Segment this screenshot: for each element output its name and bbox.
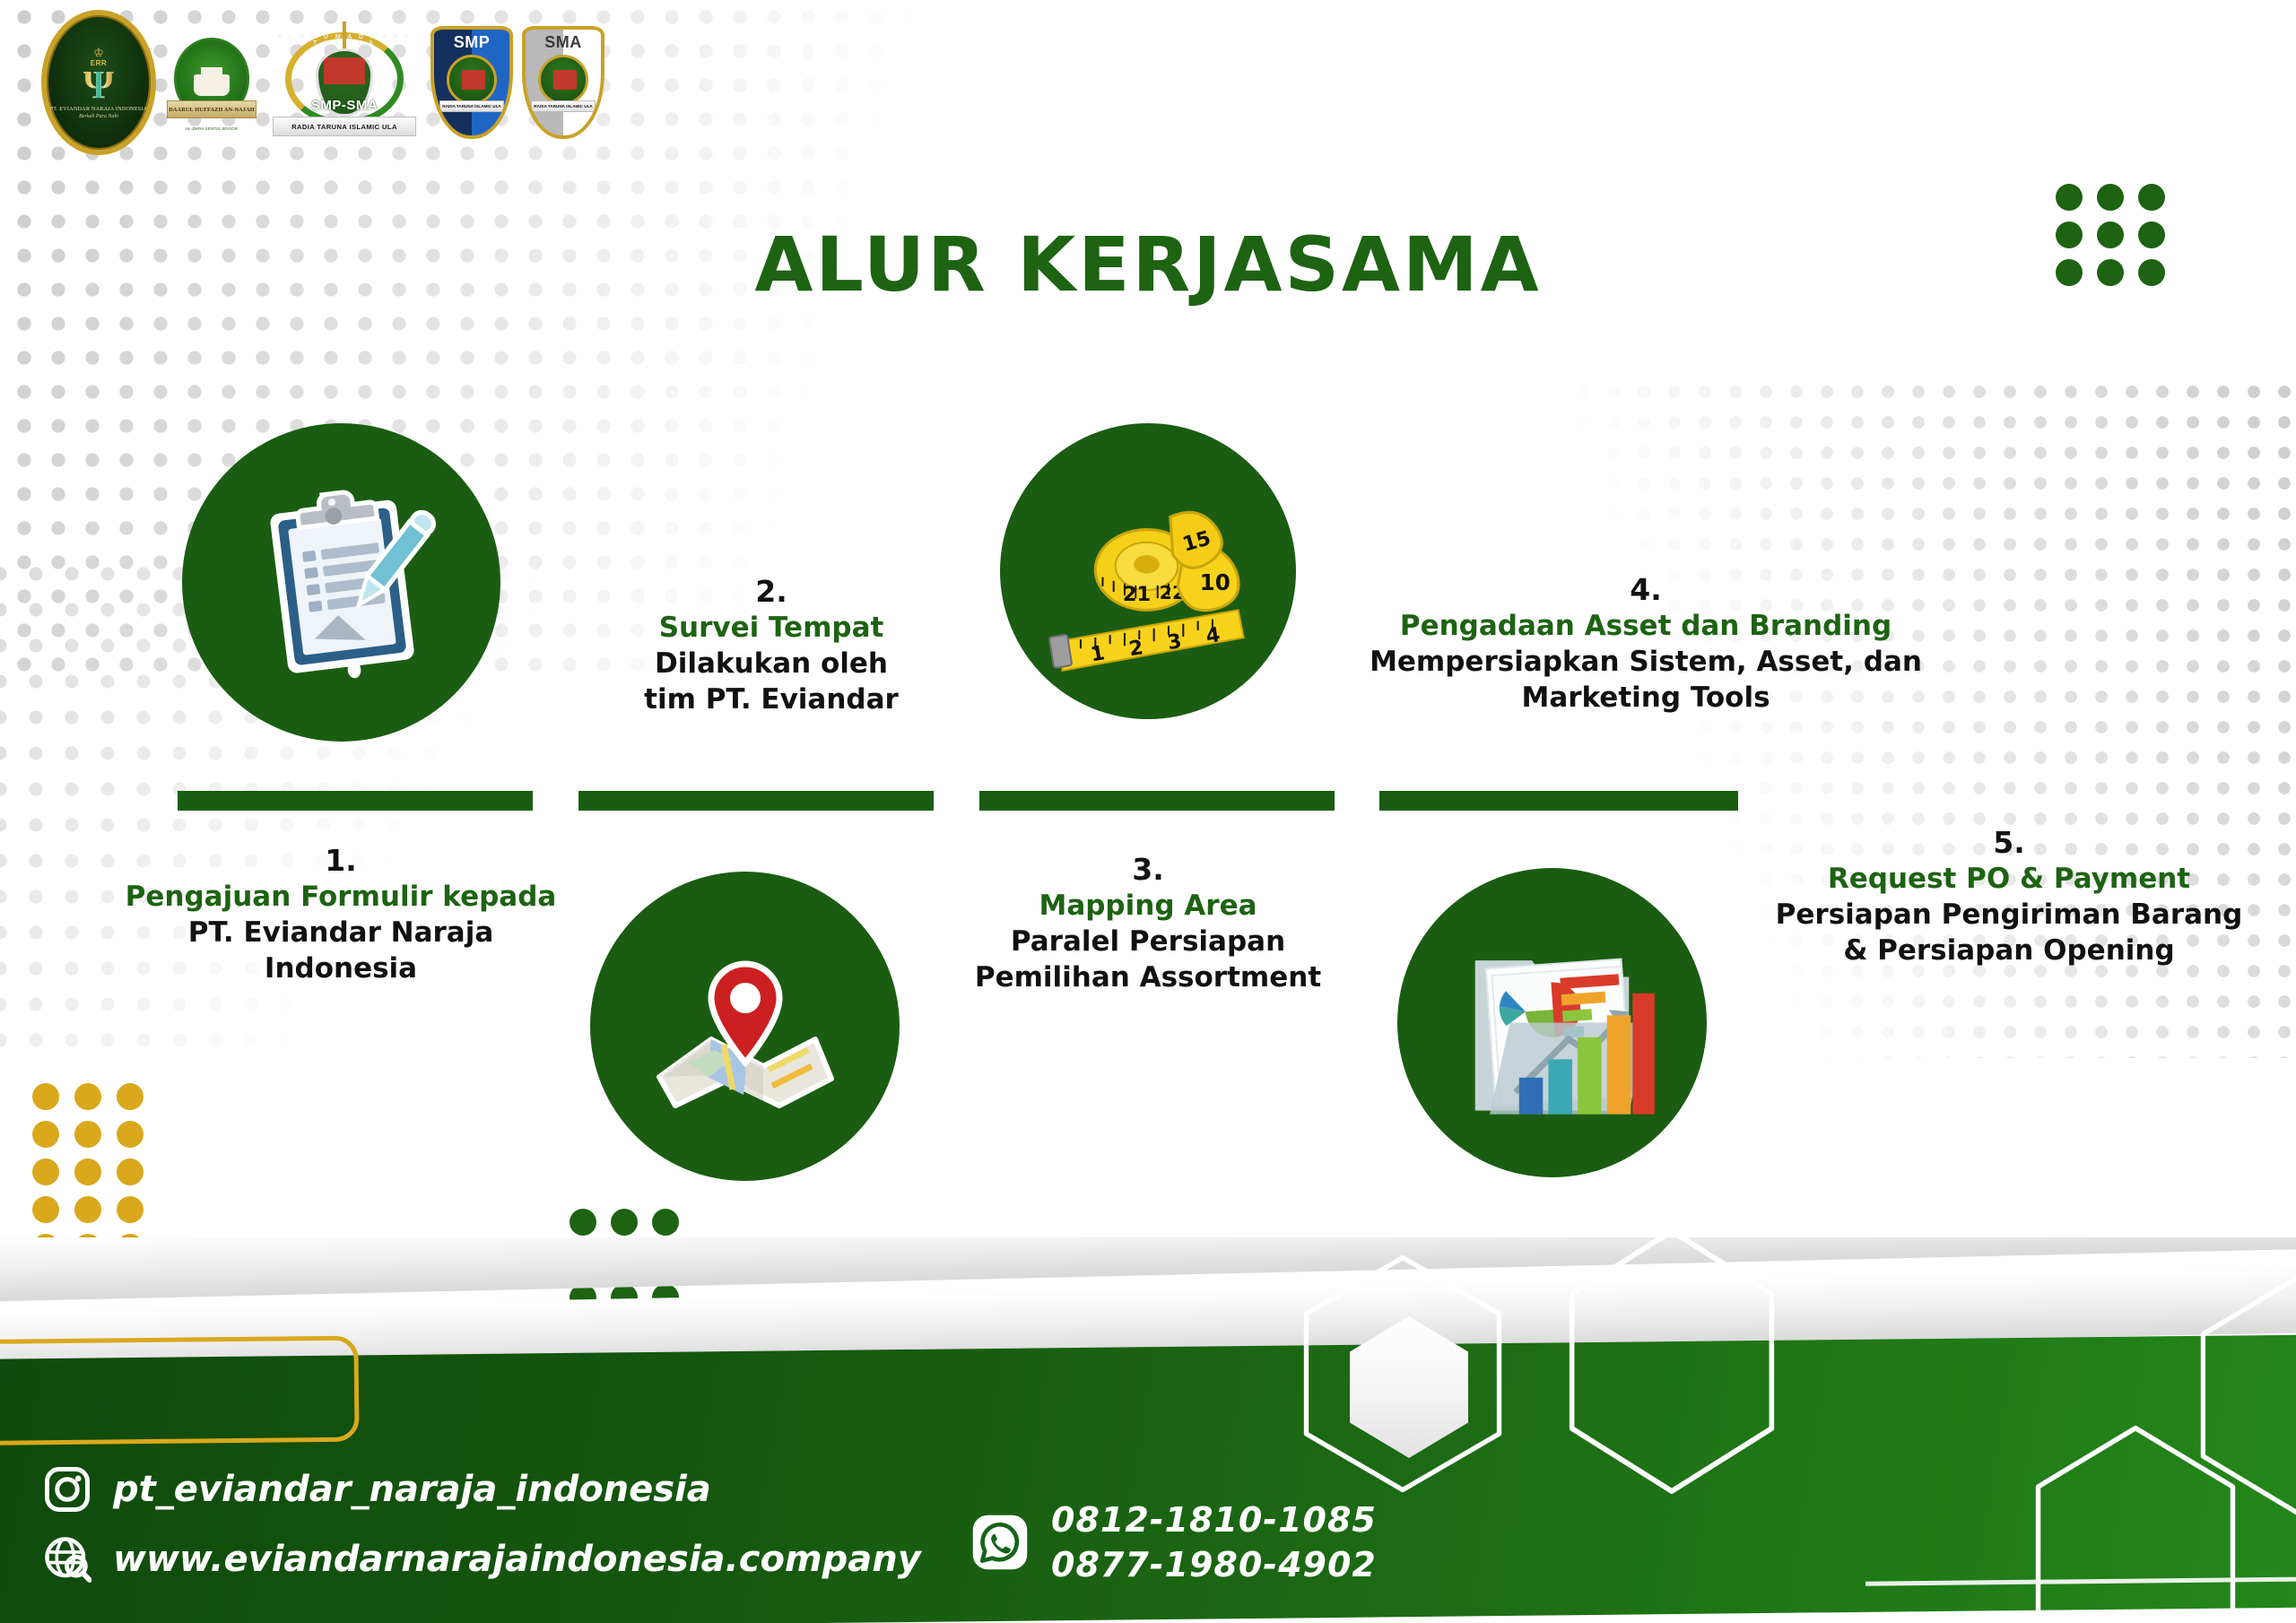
instagram-contact-row[interactable]: pt_eviandar_naraja_indonesia xyxy=(43,1465,711,1514)
sma-ribbon-text: RADIA TARUNA ISLAMIC ULA xyxy=(531,100,596,112)
instagram-handle: pt_eviandar_naraja_indonesia xyxy=(113,1468,711,1511)
step-4-heading: Pengadaan Asset dan Branding xyxy=(1318,608,1973,644)
logo-monogram: Ψ xyxy=(83,67,114,103)
poster-canvas: ♔ ERR Ψ PT. EVIANDAR NARAJA INDONESIA Be… xyxy=(0,0,2296,1623)
website-url: www.eviandarnarajaindonesia.company xyxy=(113,1538,921,1581)
timeline-bar-3 xyxy=(979,791,1335,811)
page-title: ALUR KERJASAMA xyxy=(0,221,2296,308)
whatsapp-contact-row[interactable]: 0812-1810-1085 0877-1980-4902 xyxy=(970,1497,1377,1587)
step-2-block: 2. Survei Tempat Dilakukan oleh tim PT. … xyxy=(574,574,969,717)
step-3-heading: Mapping Area xyxy=(933,888,1363,924)
svg-text:21: 21 xyxy=(1122,583,1150,606)
step-2-number: 2. xyxy=(574,574,969,610)
charts-folder-icon xyxy=(1397,868,1707,1177)
smp-shield-logo: SMP RADIA TARUNA ISLAMIC ULA xyxy=(430,26,513,139)
step-3-body: Paralel Persiapan Pemilihan Assortment xyxy=(933,924,1363,995)
step-1-heading: Pengajuan Formulir kepada xyxy=(72,879,610,915)
step-3-block: 3. Mapping Area Paralel Persiapan Pemili… xyxy=(933,852,1363,995)
hexagon-outline-2 xyxy=(1568,1227,1776,1496)
step-4-number: 4. xyxy=(1318,572,1973,608)
timeline-bar-4 xyxy=(1379,791,1738,811)
whatsapp-icon xyxy=(970,1513,1030,1572)
radia-taruna-islamic-ula-crest: A L U M U M A D R A S A T U L U L A SMP-… xyxy=(267,25,422,140)
website-contact-row[interactable]: www.eviandarnarajaindonesia.company xyxy=(43,1535,921,1584)
step-5-number: 5. xyxy=(1731,825,2287,861)
logo-tagline: Berkah Para Nabi xyxy=(79,114,118,119)
logo-company-name: PT. EVIANDAR NARAJA INDONESIA xyxy=(50,106,148,112)
sma-emblem-icon xyxy=(538,55,588,105)
pt-eviandar-naraja-indonesia-logo: ♔ ERR Ψ PT. EVIANDAR NARAJA INDONESIA Be… xyxy=(41,10,156,155)
logo-row: ♔ ERR Ψ PT. EVIANDAR NARAJA INDONESIA Be… xyxy=(41,20,604,145)
sma-label: SMA xyxy=(544,33,582,52)
crest-level-text: SMP-SMA xyxy=(267,98,422,113)
step-5-body: Persiapan Pengiriman Barang & Persiapan … xyxy=(1731,897,2287,968)
smp-label: SMP xyxy=(454,33,491,52)
step-2-heading: Survei Tempat xyxy=(574,610,969,646)
step-1-block: 1. Pengajuan Formulir kepada PT. Evianda… xyxy=(72,843,610,986)
step-5-heading: Request PO & Payment xyxy=(1731,861,2287,897)
step-4-block: 4. Pengadaan Asset dan Branding Mempersi… xyxy=(1318,572,1973,716)
crown-icon: ♔ xyxy=(93,47,104,58)
logo-sub-text: AL-ZIKRA SENTUL BOGOR xyxy=(165,126,258,131)
ypi-an-najah-taruna-logo: DAARUL HUFFAZH AN-NAJAH AL-ZIKRA SENTUL … xyxy=(165,32,258,133)
step-4-body: Mempersiapkan Sistem, Asset, dan Marketi… xyxy=(1318,644,1973,716)
globe-search-icon xyxy=(43,1535,91,1584)
sma-shield-logo: SMA RADIA TARUNA ISLAMIC ULA xyxy=(522,26,604,139)
whatsapp-numbers: 0812-1810-1085 0877-1980-4902 xyxy=(1051,1497,1377,1587)
open-book-icon xyxy=(194,74,230,96)
step-1-body: PT. Eviandar Naraja Indonesia xyxy=(72,915,610,986)
crest-arc-text: A L U M U M A D R A S A T U L U L A xyxy=(277,34,412,47)
logo-banner-text: DAARUL HUFFAZH AN-NAJAH xyxy=(167,100,257,118)
measuring-tape-icon: 21 22 10 15 1 2 3 4 xyxy=(1000,423,1296,719)
step-1-number: 1. xyxy=(72,843,610,879)
smp-ribbon-text: RADIA TARUNA ISLAMIC ULA xyxy=(439,100,504,112)
step-3-number: 3. xyxy=(933,852,1363,888)
smp-emblem-icon xyxy=(447,55,497,105)
hexagon-outline-4 xyxy=(2199,1273,2296,1517)
crest-ribbon-text: RADIA TARUNA ISLAMIC ULA xyxy=(273,117,416,136)
clipboard-form-icon xyxy=(182,423,500,742)
timeline-bar-1 xyxy=(178,791,533,811)
map-pin-icon xyxy=(590,872,900,1181)
svg-text:10: 10 xyxy=(1199,568,1230,595)
instagram-icon xyxy=(43,1465,91,1514)
step-5-block: 5. Request PO & Payment Persiapan Pengir… xyxy=(1731,825,2287,968)
timeline-bar-2 xyxy=(578,791,934,811)
gold-rounded-outline xyxy=(0,1336,360,1448)
step-2-body: Dilakukan oleh tim PT. Eviandar xyxy=(574,646,969,717)
